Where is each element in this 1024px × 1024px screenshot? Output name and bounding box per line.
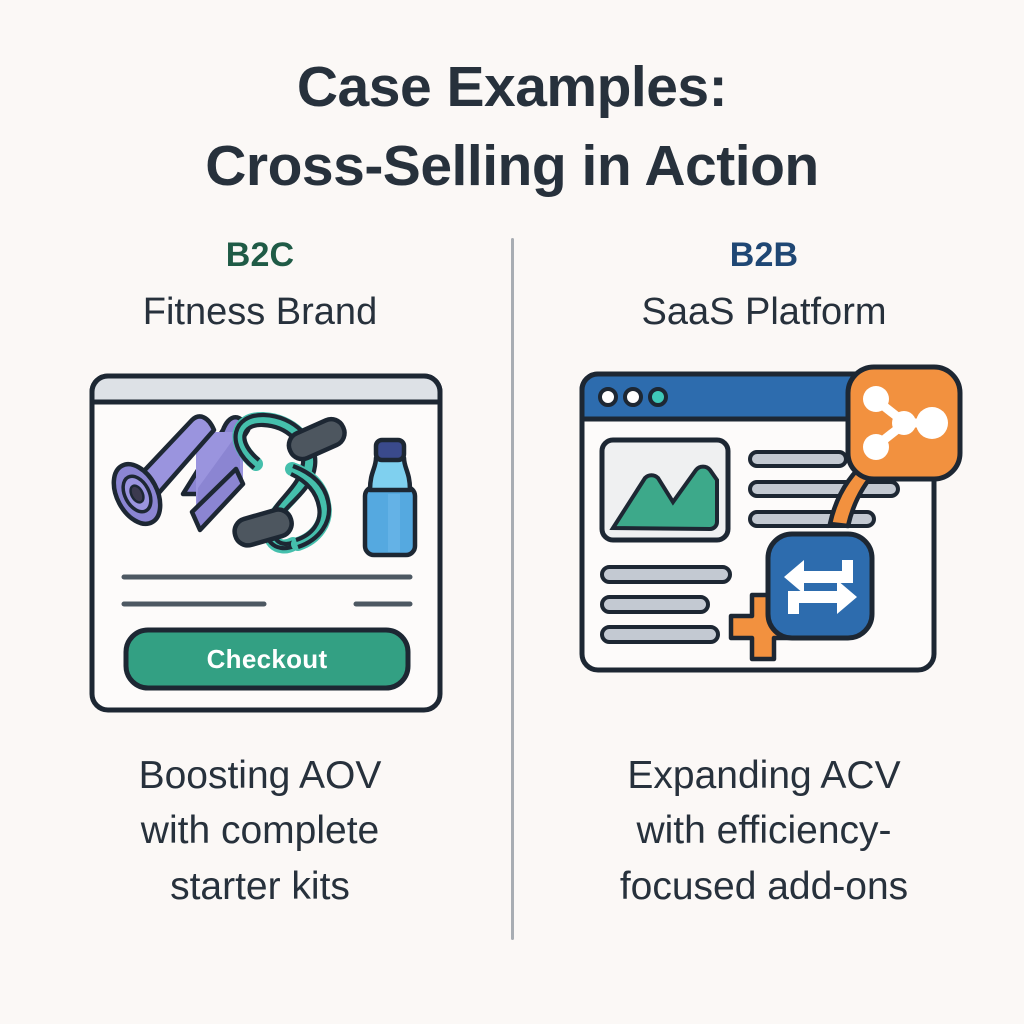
caption-b2b-line-1: Expanding ACV xyxy=(534,748,994,803)
caption-b2b-line-3: focused add-ons xyxy=(534,859,994,914)
caption-b2b: Expanding ACV with efficiency- focused a… xyxy=(534,748,994,914)
checkout-button-label[interactable]: Checkout xyxy=(126,630,408,688)
segment-label-b2b: B2B xyxy=(534,236,994,275)
caption-b2b-line-2: with efficiency- xyxy=(534,803,994,858)
area-chart-thumbnail xyxy=(602,440,728,540)
text-bar-r1 xyxy=(750,452,846,466)
column-b2c: B2C Fitness Brand xyxy=(30,236,490,335)
window-dot-1 xyxy=(600,389,616,405)
text-bar-b1 xyxy=(602,567,730,582)
caption-b2c-line-1: Boosting AOV xyxy=(30,748,490,803)
title-line-2: Cross-Selling in Action xyxy=(0,127,1024,206)
sync-swap-badge xyxy=(768,534,872,638)
segment-subtitle-b2c: Fitness Brand xyxy=(30,291,490,335)
saas-dashboard-illustration xyxy=(572,362,967,687)
text-bar-r3 xyxy=(750,512,874,526)
text-bar-r2 xyxy=(750,482,898,496)
page-title: Case Examples: Cross-Selling in Action xyxy=(0,48,1024,205)
ecommerce-checkout-illustration: Checkout xyxy=(88,372,448,722)
segment-label-b2c: B2C xyxy=(30,236,490,275)
vertical-divider xyxy=(511,238,514,940)
segment-subtitle-b2b: SaaS Platform xyxy=(534,291,994,335)
text-bar-b2 xyxy=(602,597,708,612)
caption-b2c-line-2: with complete xyxy=(30,803,490,858)
slide-canvas: Case Examples: Cross-Selling in Action B… xyxy=(0,0,1024,1024)
caption-b2c-line-3: starter kits xyxy=(30,859,490,914)
title-line-1: Case Examples: xyxy=(0,48,1024,127)
text-bar-b3 xyxy=(602,627,718,642)
caption-b2c: Boosting AOV with complete starter kits xyxy=(30,748,490,914)
column-b2b: B2B SaaS Platform xyxy=(534,236,994,335)
window-dot-2 xyxy=(625,389,641,405)
window-dot-3 xyxy=(650,389,666,405)
share-nodes-badge xyxy=(848,367,960,479)
window-dots xyxy=(600,389,666,405)
